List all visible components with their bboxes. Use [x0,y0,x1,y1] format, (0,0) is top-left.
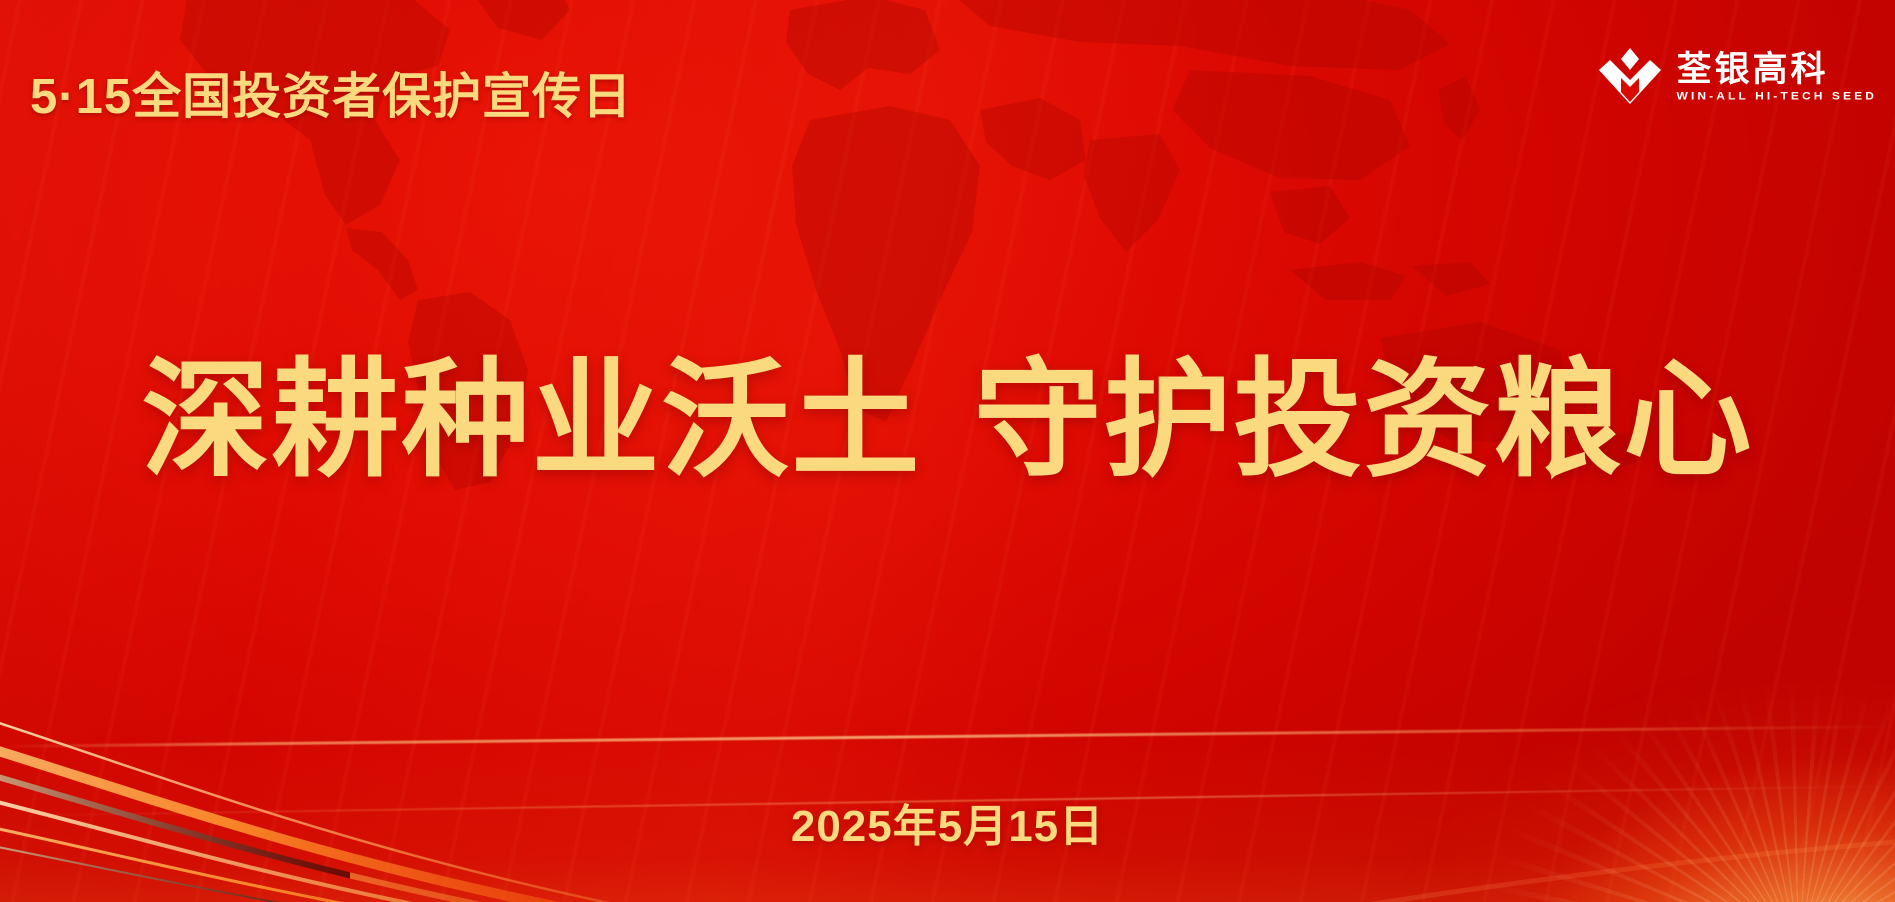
main-slogan-part1: 深耕种业沃土 [141,349,921,492]
theme-day-label: 5·15全国投资者保护宣传日 [30,57,632,128]
logo-name-cn: 荃银高科 [1677,52,1877,87]
company-logo: 荃银高科 WIN-ALL HI-TECH SEED [1599,48,1877,106]
main-slogan-part2: 守护投资粮心 [974,349,1754,492]
main-slogan: 深耕种业沃土守护投资粮心 [0,345,1895,496]
wheat-chevron-diamond-icon [1599,48,1661,106]
logo-name-en: WIN-ALL HI-TECH SEED [1677,90,1877,101]
investor-protection-day-banner: 5·15全国投资者保护宣传日 荃银高科 WIN-ALL HI-TECH SEED… [0,0,1895,902]
content-layer: 5·15全国投资者保护宣传日 荃银高科 WIN-ALL HI-TECH SEED… [0,0,1895,902]
logo-wordmark: 荃银高科 WIN-ALL HI-TECH SEED [1677,52,1877,102]
event-date: 2025年5月15日 [0,790,1895,854]
